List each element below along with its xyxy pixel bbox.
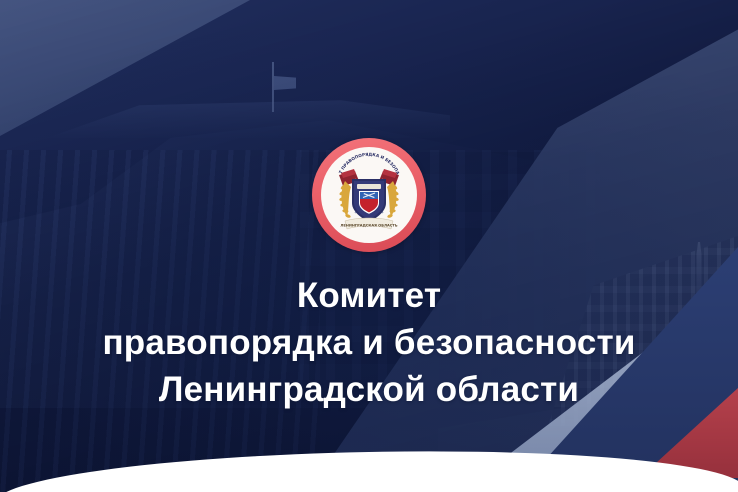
coat-of-arms-icon: КОМИТЕТ ПРАВОПОРЯДКА И БЕЗОПАСНОСТИ (321, 147, 417, 243)
organization-title: Комитет правопорядка и безопасности Лени… (0, 272, 738, 413)
emblem-white-disc: КОМИТЕТ ПРАВОПОРЯДКА И БЕЗОПАСНОСТИ (321, 147, 417, 243)
organization-emblem: КОМИТЕТ ПРАВОПОРЯДКА И БЕЗОПАСНОСТИ (312, 138, 426, 252)
title-line-2: правопорядка и безопасности (0, 319, 738, 366)
organization-banner: КОМИТЕТ ПРАВОПОРЯДКА И БЕЗОПАСНОСТИ (0, 0, 738, 492)
title-line-3: Ленинградской области (0, 366, 738, 413)
title-line-1: Комитет (0, 272, 738, 319)
svg-text:ЛЕНИНГРАДСКАЯ ОБЛАСТЬ: ЛЕНИНГРАДСКАЯ ОБЛАСТЬ (340, 223, 397, 227)
